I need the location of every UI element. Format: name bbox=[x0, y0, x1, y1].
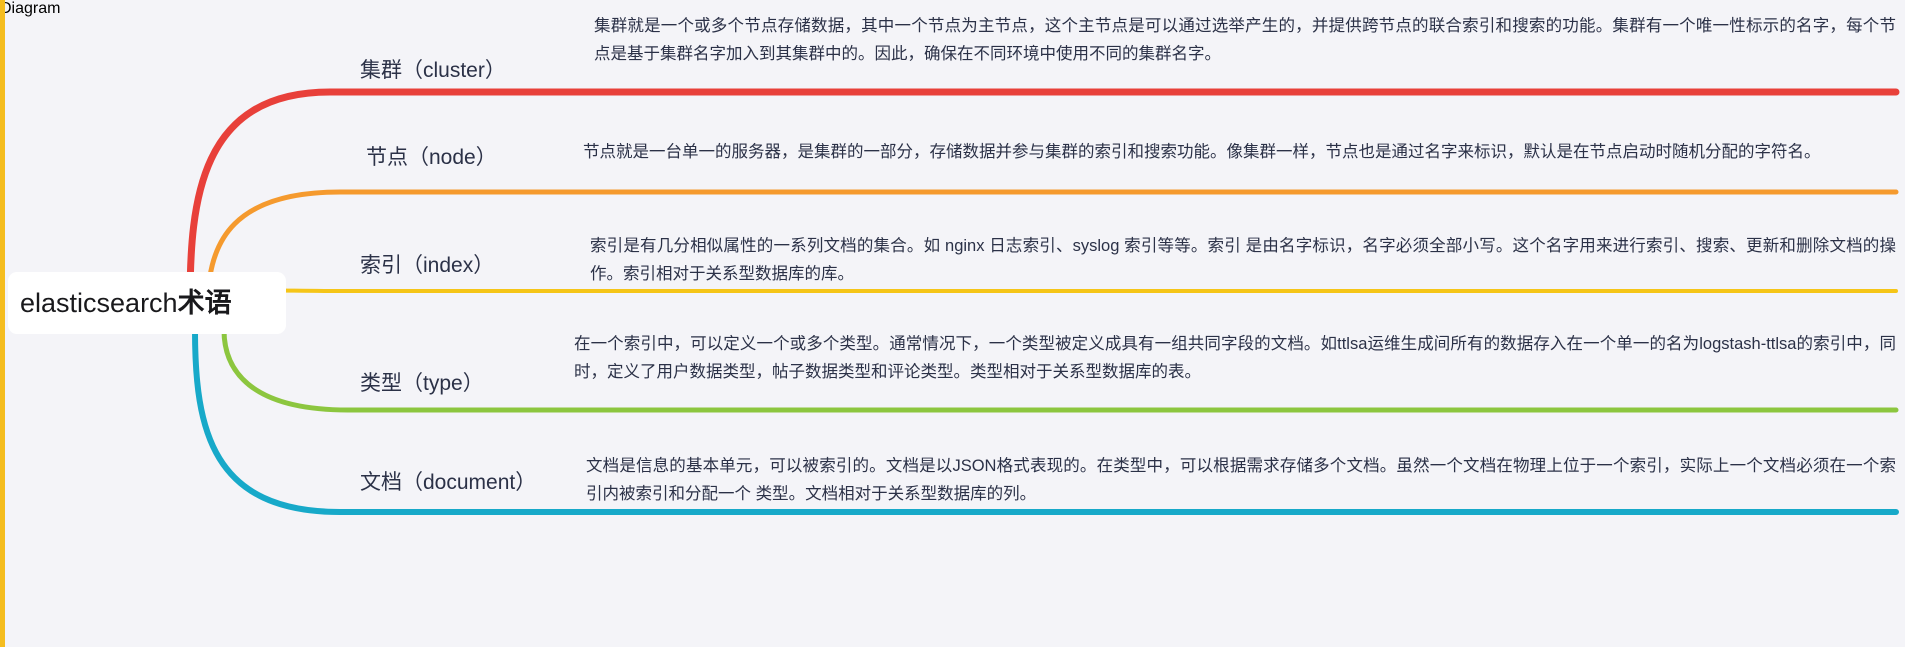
branch-description-cluster: 集群就是一个或多个节点存储数据，其中一个节点为主节点，这个主节点是可以通过选举产… bbox=[594, 12, 1896, 68]
mindmap-canvas: elasticsearch术语 集群（cluster） 集群就是一个或多个节点存… bbox=[0, 0, 1905, 647]
central-topic-label: elasticsearch术语 bbox=[20, 290, 232, 317]
branch-description-index: 索引是有几分相似属性的一系列文档的集合。如 nginx 日志索引、syslog … bbox=[590, 232, 1896, 288]
branch-description-document: 文档是信息的基本单元，可以被索引的。文档是以JSON格式表现的。在类型中，可以根… bbox=[586, 452, 1896, 508]
branch-label-index: 索引（index） bbox=[360, 249, 494, 279]
central-topic-node[interactable]: elasticsearch术语 bbox=[8, 272, 286, 334]
left-accent-bar bbox=[0, 0, 5, 647]
branch-label-type: 类型（type） bbox=[360, 367, 484, 397]
branch-line-3 bbox=[224, 290, 1896, 303]
branch-description-type: 在一个索引中，可以定义一个或多个类型。通常情况下，一个类型被定义成具有一组共同字… bbox=[574, 330, 1896, 386]
branch-description-node: 节点就是一台单一的服务器，是集群的一部分，存储数据并参与集群的索引和搜索功能。像… bbox=[583, 138, 1896, 166]
branch-label-cluster: 集群（cluster） bbox=[360, 54, 506, 84]
branch-label-node: 节点（node） bbox=[366, 141, 497, 171]
branch-label-document: 文档（document） bbox=[360, 466, 536, 496]
